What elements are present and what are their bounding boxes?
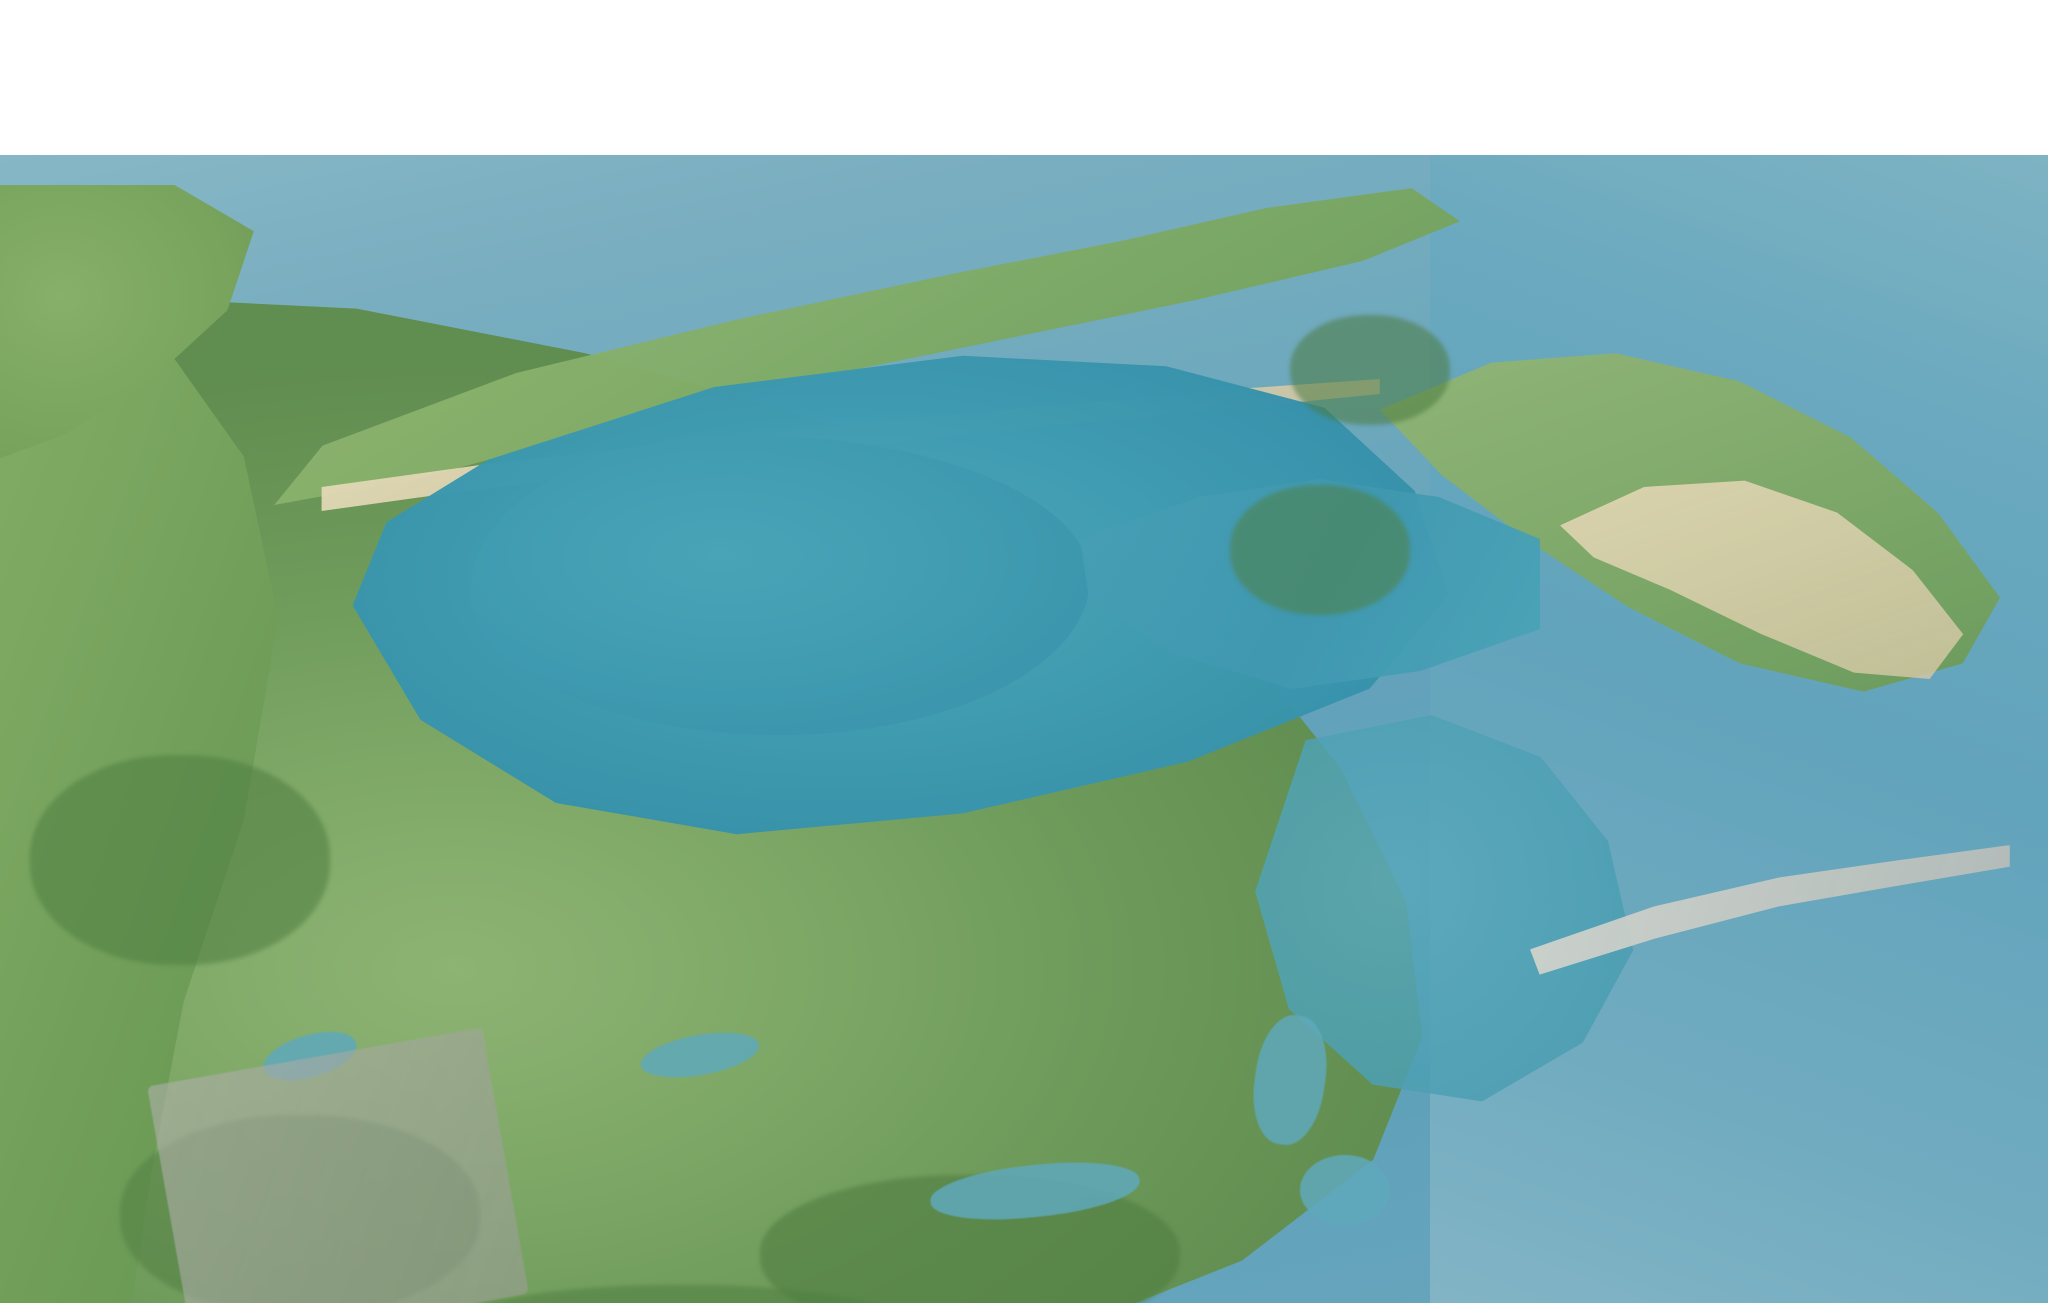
map-canvas [0, 155, 2048, 1303]
inner-harbour [470, 435, 1090, 735]
forest-patch [1290, 315, 1450, 425]
resort-map-page [0, 0, 2048, 1303]
forest-patch [30, 755, 330, 965]
baltic-sea-east [1430, 155, 2048, 1303]
forest-patch [1230, 485, 1410, 615]
resort-map[interactable] [0, 155, 2048, 1303]
pond [1300, 1155, 1390, 1225]
